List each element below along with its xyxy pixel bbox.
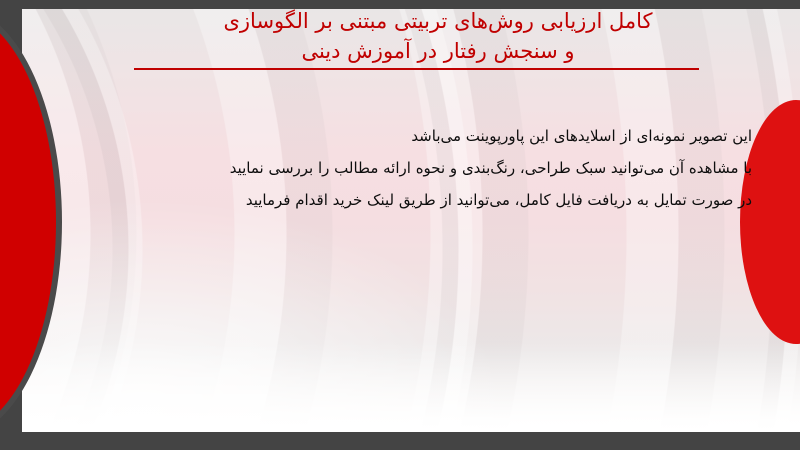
slide-title-line-1: کامل ارزیابی روش‌های تربیتی مبتنی بر الگ… <box>120 6 756 36</box>
panel-bottom-fade <box>22 342 800 432</box>
slide-body-line-2: با مشاهده آن می‌توانید سبک طراحی، رنگ‌بن… <box>130 152 752 184</box>
slide-content-panel <box>22 9 800 432</box>
slide-body-line-3: در صورت تمایل به دریافت فایل کامل، می‌تو… <box>130 184 752 216</box>
slide-title-line-2: و سنجش رفتار در آموزش دینی <box>120 36 756 66</box>
slide-title-underline <box>134 68 699 70</box>
slide-body-line-1: این تصویر نمونه‌ای از اسلایدهای این پاور… <box>130 120 752 152</box>
slide-title: کامل ارزیابی روش‌های تربیتی مبتنی بر الگ… <box>120 6 756 70</box>
slide-frame-bottom <box>0 432 800 450</box>
slide-body-text: این تصویر نمونه‌ای از اسلایدهای این پاور… <box>130 120 752 216</box>
presentation-slide: کامل ارزیابی روش‌های تربیتی مبتنی بر الگ… <box>0 0 800 450</box>
